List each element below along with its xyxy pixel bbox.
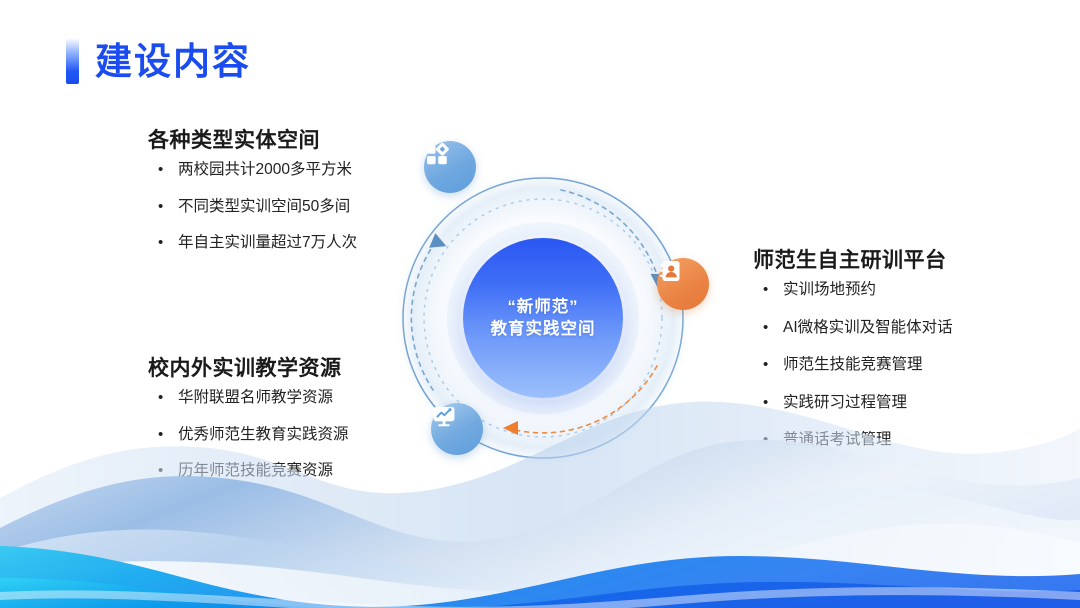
bullet-dot-icon: • [158, 199, 178, 214]
list-item: • AI微格实训及智能体对话 [753, 320, 953, 336]
list-item: • 不同类型实训空间50多间 [148, 199, 357, 215]
slide-canvas: 建设内容 各种类型实体空间 • 两校园共计2000多平方米 • 不同类型实训空间… [0, 0, 1080, 608]
list-item: • 年自主实训量超过7万人次 [148, 235, 357, 251]
list-item-label: AI微格实训及智能体对话 [783, 320, 953, 336]
grid-icon [424, 141, 450, 167]
bullet-dot-icon: • [158, 235, 178, 250]
list-item-label: 师范生技能竞赛管理 [783, 357, 923, 373]
list-item-label: 两校园共计2000多平方米 [178, 162, 352, 178]
bullet-dot-icon: • [763, 357, 783, 372]
block-heading: 师范生自主研训平台 [753, 244, 953, 274]
content-block-physical-space: 各种类型实体空间 • 两校园共计2000多平方米 • 不同类型实训空间50多间 … [148, 124, 357, 272]
list-item-label: 实训场地预约 [783, 282, 876, 298]
node-grid[interactable] [424, 141, 476, 193]
contact-book-icon [657, 258, 683, 284]
bullet-dot-icon: • [158, 162, 178, 177]
decorative-waves [0, 378, 1080, 608]
title-accent-bar [66, 38, 79, 84]
bullet-dot-icon: • [763, 320, 783, 335]
list-item-label: 不同类型实训空间50多间 [178, 199, 350, 215]
title-text: 建设内容 [95, 43, 251, 80]
list-item: • 实训场地预约 [753, 282, 953, 298]
center-line-1: “新师范” [508, 296, 579, 318]
bullet-list: • 两校园共计2000多平方米 • 不同类型实训空间50多间 • 年自主实训量超… [148, 162, 357, 251]
block-heading: 各种类型实体空间 [148, 124, 357, 154]
page-title: 建设内容 [66, 38, 251, 84]
center-circle: “新师范” 教育实践空间 [463, 238, 623, 398]
list-item: • 师范生技能竞赛管理 [753, 357, 953, 373]
bullet-dot-icon: • [763, 282, 783, 297]
list-item: • 两校园共计2000多平方米 [148, 162, 357, 178]
list-item-label: 年自主实训量超过7万人次 [178, 235, 357, 251]
node-contact-book[interactable] [657, 258, 709, 310]
center-line-2: 教育实践空间 [491, 318, 596, 340]
